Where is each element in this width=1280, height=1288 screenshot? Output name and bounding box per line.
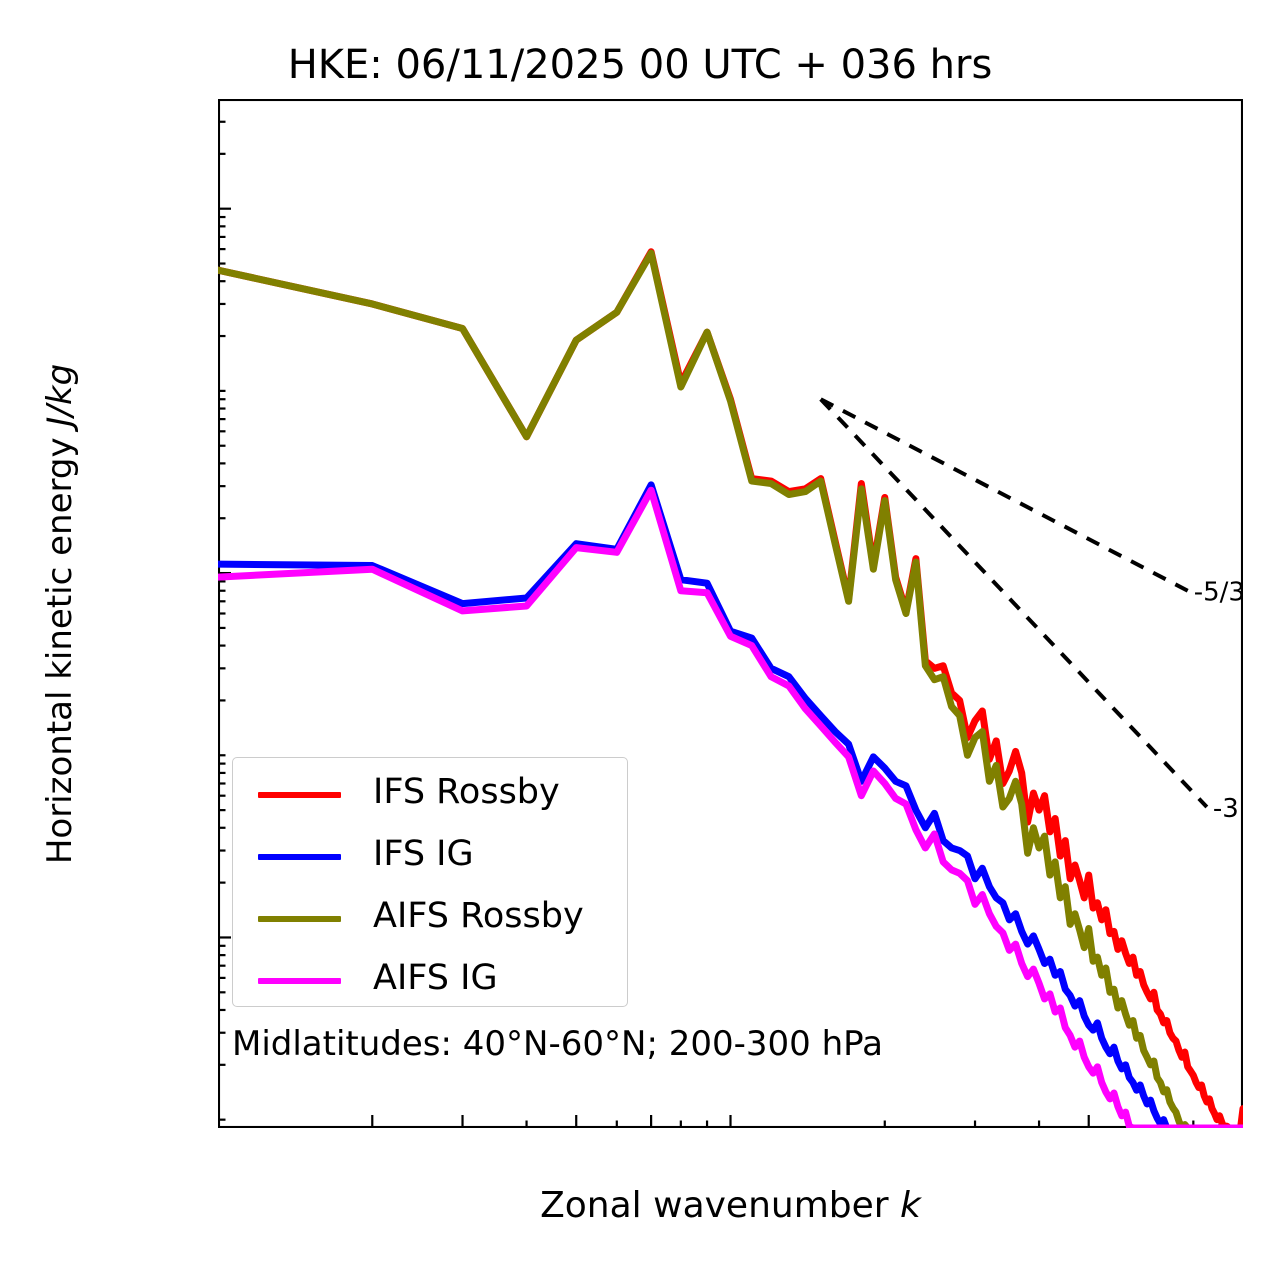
legend-label-2: AIFS Rossby [373, 896, 584, 936]
region-annotation: Midlatitudes: 40°N-60°N; 200-300 hPa [232, 1024, 883, 1064]
y-axis-label: Horizontal kinetic energy J/kg [40, 254, 80, 974]
legend-label-3: AIFS IG [373, 958, 498, 998]
legend-label-1: IFS IG [373, 834, 474, 874]
legend: IFS Rossby IFS IG AIFS Rossby AIFS IG [232, 757, 628, 1007]
y-axis-label-unit: J/kg [40, 364, 80, 427]
slope-label-0: -5/3 [1194, 578, 1243, 608]
slope-label-1: -3 [1213, 794, 1239, 824]
legend-swatch-3 [258, 978, 341, 984]
legend-label-0: IFS Rossby [373, 772, 560, 812]
legend-item-2: AIFS Rossby [233, 888, 629, 950]
legend-swatch-2 [258, 916, 341, 922]
legend-swatch-1 [258, 854, 341, 860]
legend-item-0: IFS Rossby [233, 764, 629, 826]
legend-item-1: IFS IG [233, 826, 629, 888]
x-axis-label: Zonal wavenumber k [218, 1185, 1243, 1226]
y-axis-label-main: Horizontal kinetic energy [40, 427, 80, 865]
x-axis-label-symbol: k [900, 1185, 921, 1226]
legend-item-3: AIFS IG [233, 950, 629, 1012]
x-tick-group: 1235710152550100 [218, 1115, 1243, 1128]
chart-figure: HKE: 06/11/2025 00 UTC + 036 hrs Horizon… [0, 0, 1280, 1288]
x-axis-label-main: Zonal wavenumber [540, 1185, 900, 1226]
chart-title: HKE: 06/11/2025 00 UTC + 036 hrs [0, 42, 1280, 88]
legend-swatch-0 [258, 792, 341, 798]
